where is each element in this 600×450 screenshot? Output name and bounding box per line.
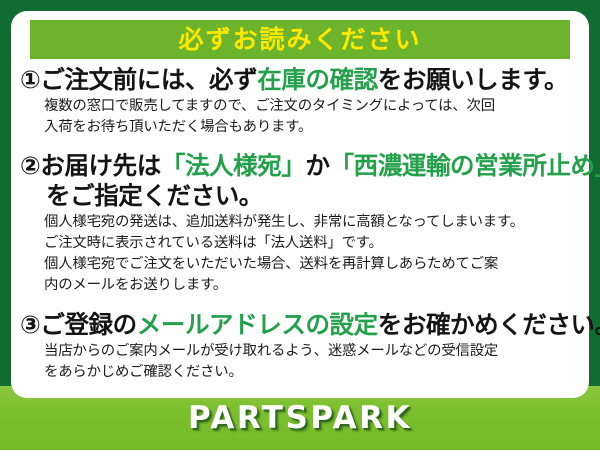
notice-item-3: ③ご登録のメールアドレスの設定をお確かめください。 当店からのご案内メールが受け… (20, 310, 580, 383)
notice-item-2-headline-line2: をご指定ください。 (46, 181, 580, 212)
footer-brand: PARTSPARK (0, 400, 600, 436)
notice-item-2-headline: ②お届け先は「法人様宛」か「西濃運輸の営業所止め」 (20, 151, 580, 182)
brand-name: PARTSPARK (188, 400, 412, 436)
notice-item-3-headline: ③ご登録のメールアドレスの設定をお確かめください。 (20, 310, 580, 341)
notice-card: 必ずお読みください ①ご注文前には、必ず在庫の確認をお願いします。 複数の窓口で… (0, 0, 600, 450)
notice-item-3-headline-part-3: をお確かめください。 (378, 310, 600, 339)
spacer-2 (20, 298, 580, 310)
notice-item-1-subline-2: 入荷をお待ち頂いただく場合もあります。 (44, 117, 580, 138)
white-content-panel: 必ずお読みください ①ご注文前には、必ず在庫の確認をお願いします。 複数の窓口で… (11, 11, 589, 398)
notice-item-1-marker: ① (20, 65, 40, 94)
notice-item-2-subline-4: 内のメールをお送りします。 (44, 275, 580, 296)
notice-item-2-subline-3: 個人様宅宛でご注文をいただいた場合、送料を再計算しあらためてご案 (44, 254, 580, 275)
notice-item-1-headline: ①ご注文前には、必ず在庫の確認をお願いします。 (20, 65, 580, 96)
notice-item-1-subline-1: 複数の窓口で販売してますので、ご注文のタイミングによっては、次回 (44, 96, 580, 117)
notice-item-2-headline-part-3: か (305, 151, 329, 180)
notice-item-1-headline-part-1: ご注文前には、必ず (40, 65, 257, 94)
notice-item-3-subtext: 当店からのご案内メールが受け取れるよう、迷惑メールなどの受信設定 をあらかじめご… (44, 341, 580, 383)
notice-item-3-headline-part-1: ご登録の (40, 310, 136, 339)
notice-item-2-subline-2: ご注文時に表示されている送料は「法人送料」です。 (44, 233, 580, 254)
notice-item-2: ②お届け先は「法人様宛」か「西濃運輸の営業所止め」 をご指定ください。 個人様宅… (20, 151, 580, 296)
notice-item-2-headline-highlight-2: 「西濃運輸の営業所止め」 (330, 151, 600, 180)
notice-item-2-subtext: 個人様宅宛の発送は、追加送料が発生し、非常に高額となってしまいます。 ご注文時に… (44, 212, 580, 296)
notice-item-1-headline-part-3: をお願いします。 (378, 65, 568, 94)
notice-item-2-subline-1: 個人様宅宛の発送は、追加送料が発生し、非常に高額となってしまいます。 (44, 212, 580, 233)
notice-item-3-marker: ③ (20, 310, 40, 339)
notice-item-2-marker: ② (20, 151, 40, 180)
notice-item-3-subline-1: 当店からのご案内メールが受け取れるよう、迷惑メールなどの受信設定 (44, 341, 580, 362)
notice-item-3-subline-2: をあらかじめご確認ください。 (44, 362, 580, 383)
notice-item-1-headline-highlight: 在庫の確認 (257, 65, 378, 94)
spacer-1 (20, 140, 580, 151)
notice-item-3-headline-highlight: メールアドレスの設定 (137, 310, 378, 339)
notice-item-1-subtext: 複数の窓口で販売してますので、ご注文のタイミングによっては、次回 入荷をお待ち頂… (44, 96, 580, 138)
title-banner: 必ずお読みください (30, 20, 570, 59)
notice-item-1: ①ご注文前には、必ず在庫の確認をお願いします。 複数の窓口で販売してますので、ご… (20, 65, 580, 138)
notice-items: ①ご注文前には、必ず在庫の確認をお願いします。 複数の窓口で販売してますので、ご… (20, 65, 580, 384)
notice-item-2-headline-highlight-1: 「法人様宛」 (161, 151, 306, 180)
notice-item-2-headline-part-1: お届け先は (40, 151, 161, 180)
banner-title: 必ずお読みください (178, 27, 421, 52)
